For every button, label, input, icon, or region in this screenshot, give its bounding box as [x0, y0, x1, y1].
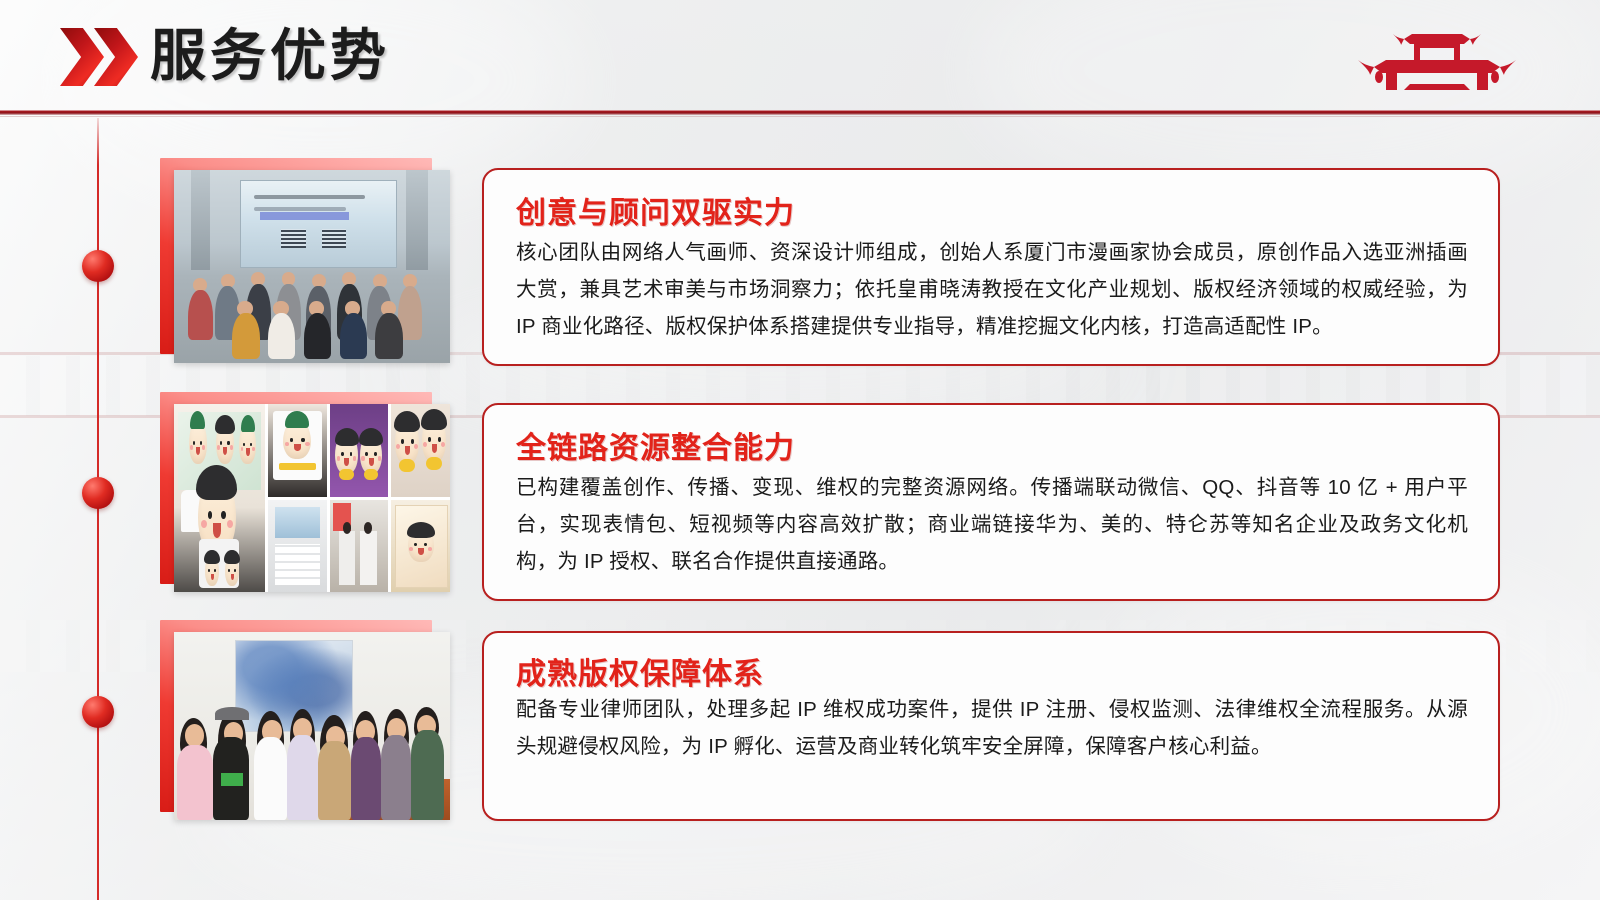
header-divider: [0, 110, 1600, 115]
slide-root: 服务优势: [0, 0, 1600, 900]
header-divider-hairline: [0, 116, 1600, 117]
timeline-axis: [97, 118, 99, 900]
ip-merchandise-collage-image: [174, 404, 450, 592]
page-title: 服务优势: [150, 16, 390, 96]
section-title-2: 全链路资源整合能力: [516, 423, 795, 467]
section-title-1: 创意与顾问双驱实力: [516, 188, 795, 232]
section-photo-1: [160, 158, 450, 363]
section-photo-3: [160, 620, 450, 820]
section-card-2: 全链路资源整合能力 已构建覆盖创作、传播、变现、维权的完整资源网络。传播端联动微…: [482, 403, 1500, 601]
timeline-dot-1: [82, 250, 114, 282]
section-body-3: 配备专业律师团队，处理多起 IP 维权成功案件，提供 IP 注册、侵权监测、法律…: [516, 691, 1468, 765]
group-photo-conference-image: [174, 170, 450, 363]
double-chevron-right-icon: [60, 28, 138, 86]
section-card-3: 成熟版权保障体系 配备专业律师团队，处理多起 IP 维权成功案件，提供 IP 注…: [482, 631, 1500, 821]
section-photo-2: [160, 392, 450, 592]
timeline-dot-3: [82, 696, 114, 728]
section-card-1: 创意与顾问双驱实力 核心团队由网络人气画师、资深设计师组成，创始人系厦门市漫画家…: [482, 168, 1500, 366]
slide-header: 服务优势: [0, 0, 1600, 113]
timeline-dot-2: [82, 477, 114, 509]
section-title-3: 成熟版权保障体系: [516, 649, 764, 693]
section-body-2: 已构建覆盖创作、传播、变现、维权的完整资源网络。传播端联动微信、QQ、抖音等 1…: [516, 469, 1468, 580]
section-body-1: 核心团队由网络人气画师、资深设计师组成，创始人系厦门市漫画家协会成员，原创作品入…: [516, 234, 1468, 345]
chinese-pavilion-logo-icon: [1352, 22, 1522, 94]
team-studio-group-photo-image: [174, 632, 450, 820]
